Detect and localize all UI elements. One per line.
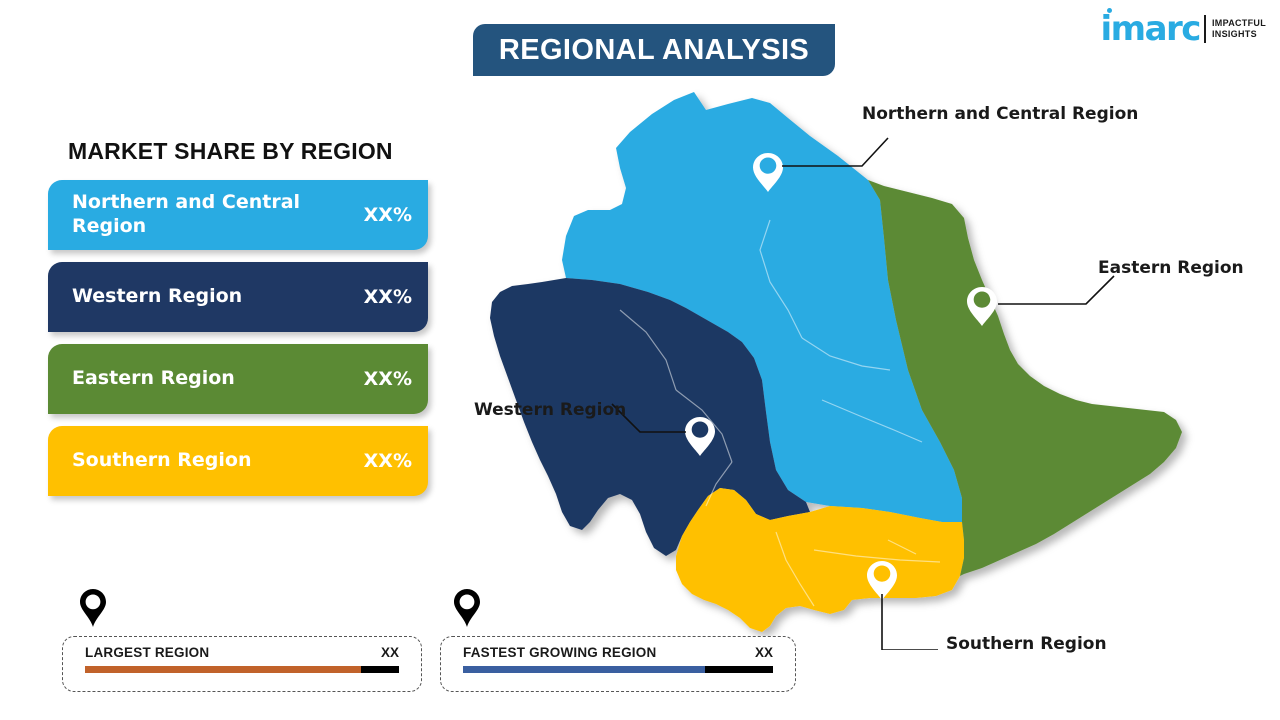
logo-divider [1204, 15, 1206, 43]
logo-tagline-line2: INSIGHTS [1212, 29, 1266, 40]
largest-region-label: LARGEST REGION [85, 645, 209, 660]
legend-row-southern[interactable]: Southern Region XX% [48, 426, 428, 496]
fastest-growing-region-value: XX [755, 645, 773, 660]
logo-tagline: IMPACTFUL INSIGHTS [1212, 18, 1266, 41]
callout-label-southern: Southern Region [946, 634, 1107, 654]
largest-region-progress-track [85, 666, 399, 673]
legend-label: Eastern Region [72, 367, 364, 391]
legend-value: XX% [364, 286, 412, 308]
fastest-growing-region-progress-track [463, 666, 773, 673]
callout-label-western: Western Region [474, 400, 626, 420]
leader-line-southern [882, 594, 938, 650]
market-share-legend: Northern and Central Region XX% Western … [48, 180, 428, 508]
legend-value: XX% [364, 450, 412, 472]
legend-row-northern-and-central[interactable]: Northern and Central Region XX% [48, 180, 428, 250]
legend-row-eastern[interactable]: Eastern Region XX% [48, 344, 428, 414]
largest-region-progress-fill [85, 666, 361, 673]
logo-tagline-line1: IMPACTFUL [1212, 18, 1266, 29]
fastest-growing-region-card[interactable]: FASTEST GROWING REGION XX [440, 636, 796, 692]
saudi-arabia-region-map [470, 70, 1230, 650]
largest-region-pin-icon [78, 588, 108, 628]
leader-line-eastern [998, 276, 1114, 304]
logo-dot-icon [1107, 8, 1112, 13]
imarc-logo: imarc IMPACTFUL INSIGHTS [1101, 12, 1266, 46]
page-title: REGIONAL ANALYSIS [499, 34, 809, 67]
map-svg [470, 70, 1230, 650]
legend-label: Northern and Central Region [72, 191, 364, 239]
legend-row-western[interactable]: Western Region XX% [48, 262, 428, 332]
largest-region-value: XX [381, 645, 399, 660]
legend-value: XX% [364, 368, 412, 390]
callout-label-eastern: Eastern Region [1098, 258, 1244, 278]
legend-value: XX% [364, 204, 412, 226]
legend-label: Western Region [72, 285, 364, 309]
logo-wordmark: imarc [1101, 12, 1200, 46]
callout-label-northern-and-central: Northern and Central Region [862, 104, 1138, 124]
fastest-growing-region-progress-fill [463, 666, 705, 673]
legend-label: Southern Region [72, 449, 364, 473]
largest-region-card[interactable]: LARGEST REGION XX [62, 636, 422, 692]
market-share-heading: MARKET SHARE BY REGION [68, 138, 393, 165]
page-title-banner: REGIONAL ANALYSIS [473, 24, 835, 76]
logo-wordmark-text: imarc [1101, 9, 1200, 49]
fastest-growing-region-label: FASTEST GROWING REGION [463, 645, 656, 660]
fastest-growing-region-pin-icon [452, 588, 482, 628]
